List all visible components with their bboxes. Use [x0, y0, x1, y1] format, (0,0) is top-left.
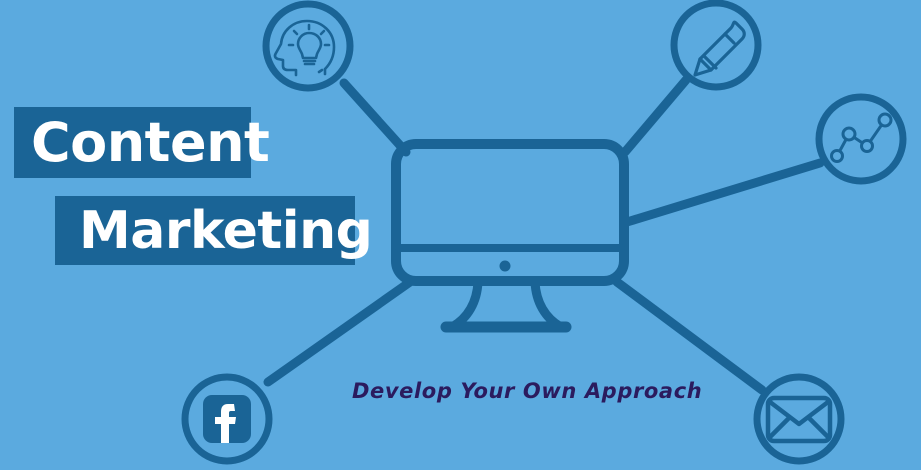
chart-point-2	[843, 128, 855, 140]
monitor-power-dot	[500, 261, 511, 272]
tagline: Develop Your Own Approach	[352, 379, 672, 403]
headline-badge-line2: Marketing	[55, 196, 355, 265]
chart-point-4	[879, 114, 891, 126]
content-marketing-banner: Content Marketing Develop Your Own Appro…	[0, 0, 921, 470]
chart-point-1	[832, 151, 843, 162]
headline-badge-line1: Content	[14, 107, 251, 178]
headline-line2-text: Marketing	[79, 205, 372, 257]
chart-point-3	[862, 141, 873, 152]
headline-line1-text: Content	[31, 116, 269, 170]
facebook-icon	[203, 395, 251, 443]
